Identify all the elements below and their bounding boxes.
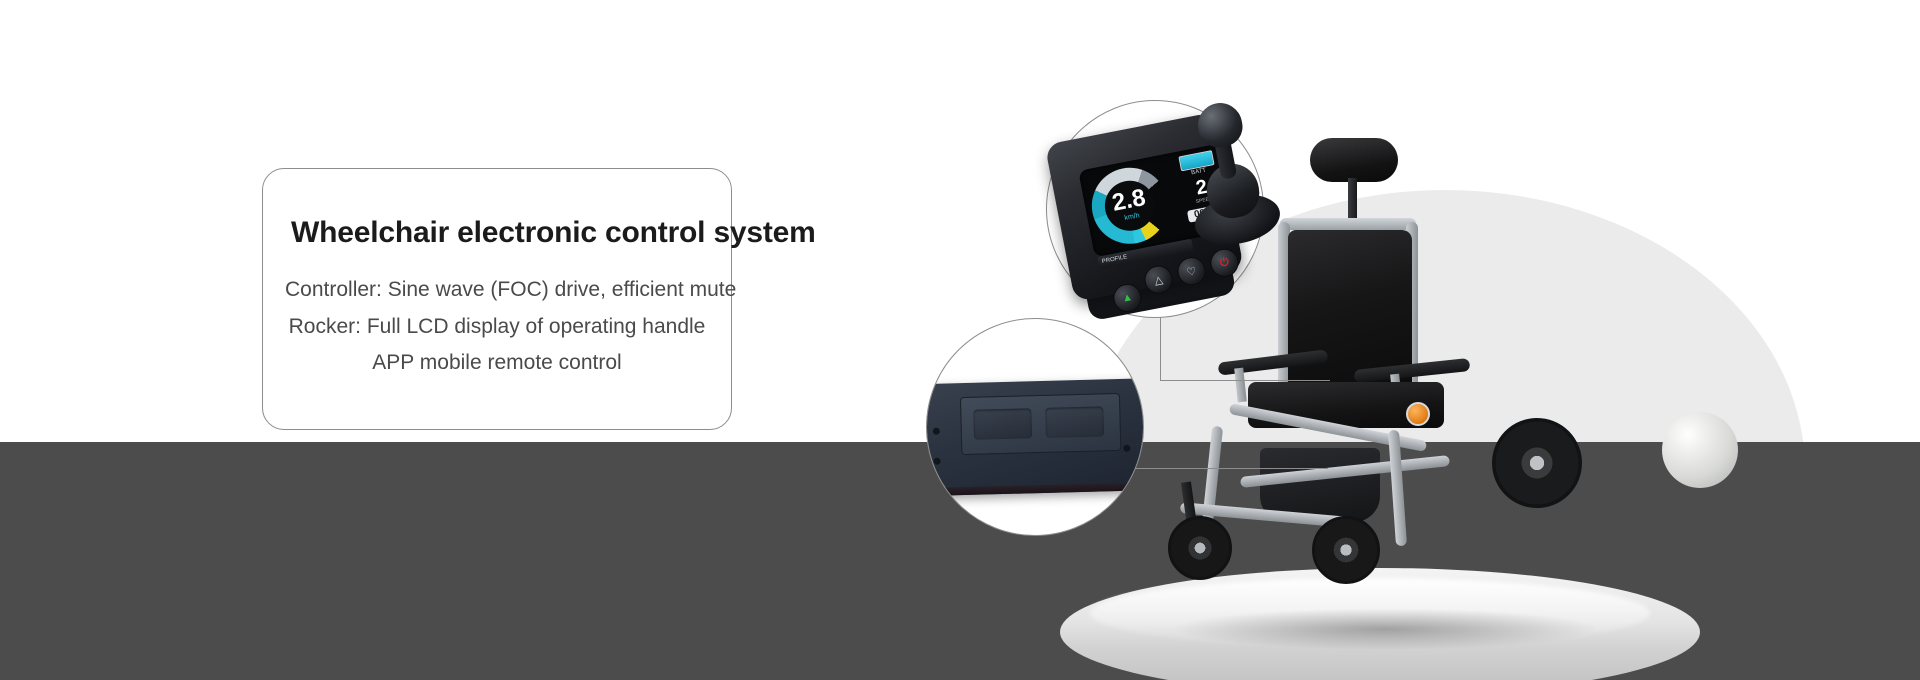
front-caster-wheel [1168,516,1232,580]
armrest-post-left [1234,368,1247,403]
speed-value: 2.8 [1110,186,1147,216]
info-card: Wheelchair electronic control system Con… [262,168,732,430]
mid-wheel [1312,516,1380,584]
leader-line-joystick [1160,380,1330,381]
controller-screw [1123,445,1130,452]
horn-icon: △ [1153,272,1164,286]
rear-wheel [1492,418,1582,508]
controller-box-assembly [927,319,1143,535]
feature-list: Controller: Sine wave (FOC) drive, effic… [285,272,709,383]
feature-line-controller: Controller: Sine wave (FOC) drive, effic… [285,272,709,309]
battery-icon [1178,150,1214,171]
feature-line-rocker: Rocker: Full LCD display of operating ha… [285,309,709,346]
page-title: Wheelchair electronic control system [285,216,816,250]
reflector-icon [1406,402,1430,426]
speed-unit: km/h [1124,212,1141,224]
decorative-sphere [1662,412,1738,488]
speed-gauge-ring: 2.8 km/h [1085,161,1174,250]
controller-slot-right [1045,406,1104,438]
forward-arrow-icon: ▲ [1121,291,1134,305]
light-icon: ♡ [1185,264,1197,279]
forward-button[interactable]: ▲ [1111,282,1144,315]
controller-box [926,378,1144,497]
promo-banner: 2.8 km/h BATT 2 SPEED 000.5 km PROFILE ▲ [0,0,1920,680]
controller-cover-plate [960,393,1121,455]
feature-line-app: APP mobile remote control [285,345,709,382]
power-icon: ⏻ [1219,256,1230,270]
controller-screw [933,428,940,435]
horn-button[interactable]: △ [1142,263,1175,296]
speed-gauge-center: 2.8 km/h [1101,176,1160,235]
controller-base-lip [926,482,1144,497]
power-button[interactable]: ⏻ [1208,246,1241,279]
callout-controller-box [926,318,1144,536]
controller-slot-left [973,408,1032,440]
light-button[interactable]: ♡ [1175,255,1208,288]
controller-screw [934,458,941,465]
